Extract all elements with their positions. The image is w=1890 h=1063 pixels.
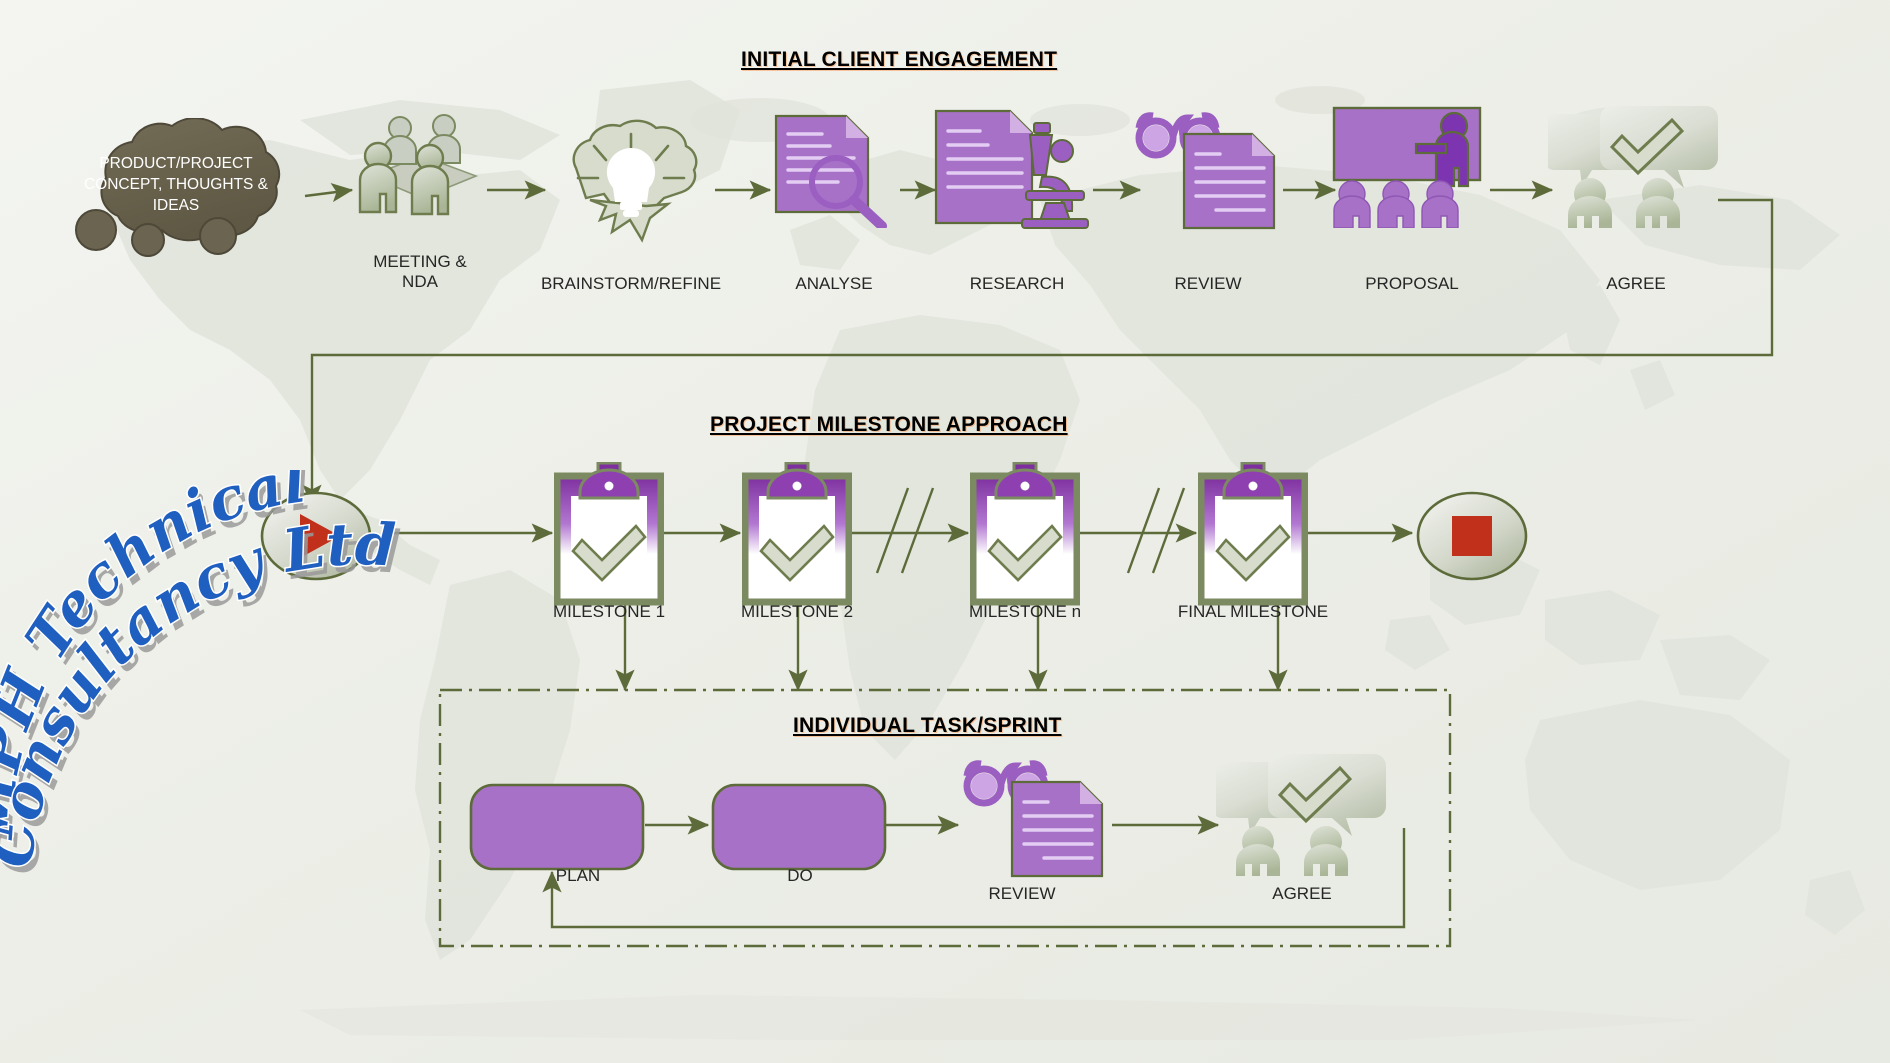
- document-glasses-icon: [1128, 108, 1284, 230]
- clipboard-check-icon: [742, 462, 852, 606]
- label-meeting-nda: MEETING & NDA: [350, 252, 490, 292]
- label-sprint-review: REVIEW: [952, 884, 1092, 904]
- icon-layer: [0, 0, 1890, 1063]
- clipboard-check-icon: [1198, 462, 1308, 606]
- section-title-initial-client-engagement: INITIAL CLIENT ENGAGEMENT: [741, 48, 1057, 72]
- brain-lightbulb-icon: [546, 108, 716, 248]
- label-plan: PLAN: [528, 866, 628, 886]
- concept-cloud-text: PRODUCT/PROJECT CONCEPT, THOUGHTS & IDEA…: [71, 153, 281, 216]
- label-meeting-line2: NDA: [350, 272, 490, 292]
- label-milestone-1: MILESTONE 1: [528, 602, 690, 622]
- label-do: DO: [750, 866, 850, 886]
- section-title-individual-task-sprint: INDIVIDUAL TASK/SPRINT: [793, 714, 1061, 738]
- play-start-icon: [258, 490, 374, 582]
- label-meeting-line1: MEETING &: [350, 252, 490, 272]
- concept-line-2: CONCEPT, THOUGHTS &: [71, 174, 281, 195]
- label-research: RESEARCH: [937, 274, 1097, 294]
- process-flow-diagram: MPH Technical Consultancy Ltd MPH Techni…: [0, 0, 1890, 1063]
- presentation-audience-icon: [1330, 100, 1494, 228]
- document-magnifier-icon: [768, 110, 900, 228]
- speech-check-people-icon: [1216, 752, 1392, 876]
- rounded-box: [468, 782, 646, 872]
- concept-line-1: PRODUCT/PROJECT: [71, 153, 281, 174]
- section-title-project-milestone-approach: PROJECT MILESTONE APPROACH: [710, 413, 1068, 437]
- label-sprint-agree: AGREE: [1232, 884, 1372, 904]
- document-microscope-icon: [930, 105, 1098, 230]
- label-proposal: PROPOSAL: [1332, 274, 1492, 294]
- label-brainstorm-refine: BRAINSTORM/REFINE: [521, 274, 741, 294]
- label-review: REVIEW: [1138, 274, 1278, 294]
- speech-check-people-icon: [1548, 104, 1724, 228]
- people-meeting-icon: [352, 108, 492, 218]
- clipboard-check-icon: [554, 462, 664, 606]
- document-glasses-icon: [956, 756, 1112, 878]
- label-analyse: ANALYSE: [764, 274, 904, 294]
- rounded-box: [710, 782, 888, 872]
- concept-line-3: IDEAS: [71, 195, 281, 216]
- stop-end-icon: [1414, 490, 1530, 582]
- label-agree: AGREE: [1566, 274, 1706, 294]
- label-final-milestone: FINAL MILESTONE: [1160, 602, 1346, 622]
- label-milestone-n: MILESTONE n: [944, 602, 1106, 622]
- clipboard-check-icon: [970, 462, 1080, 606]
- label-milestone-2: MILESTONE 2: [716, 602, 878, 622]
